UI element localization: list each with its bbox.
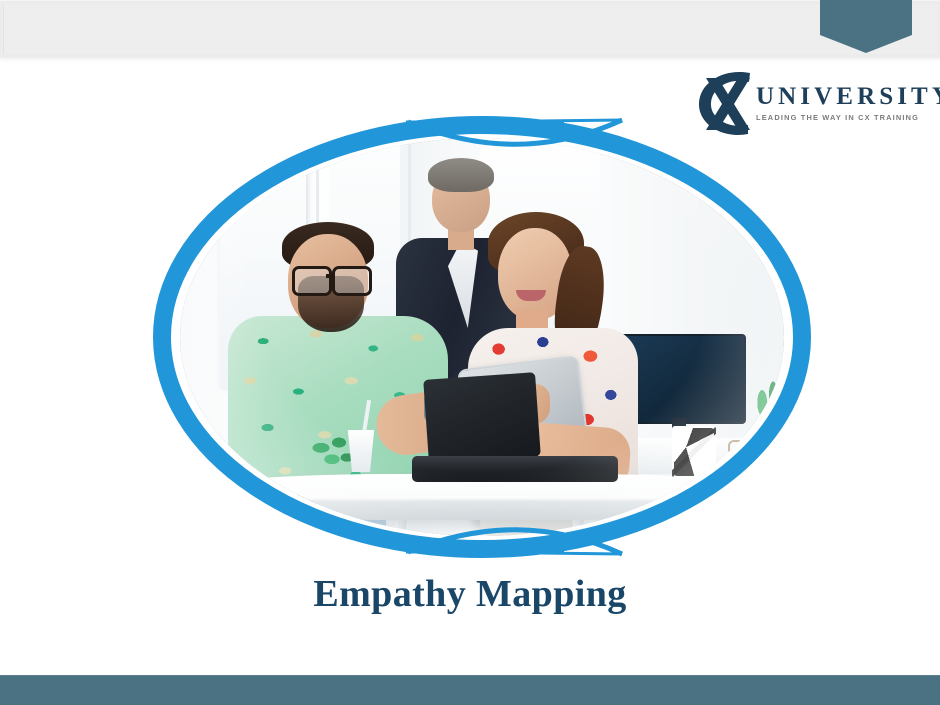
bottom-cross-line-right [452,552,622,554]
top-bar-inner-panel [3,5,938,54]
ellipse-ring-graphic [152,112,812,562]
top-decorative-bar [0,0,940,58]
ellipse-photo-frame [152,112,812,562]
slide: UNIVERSITY LEADING THE WAY IN CX TRAININ… [0,0,940,705]
top-cross-line-right [452,120,622,122]
logo-university-text: UNIVERSITY [756,84,926,109]
blue-ellipse-ring [162,125,802,549]
bottom-decorative-bar [0,675,940,705]
slide-title: Empathy Mapping [0,572,940,616]
